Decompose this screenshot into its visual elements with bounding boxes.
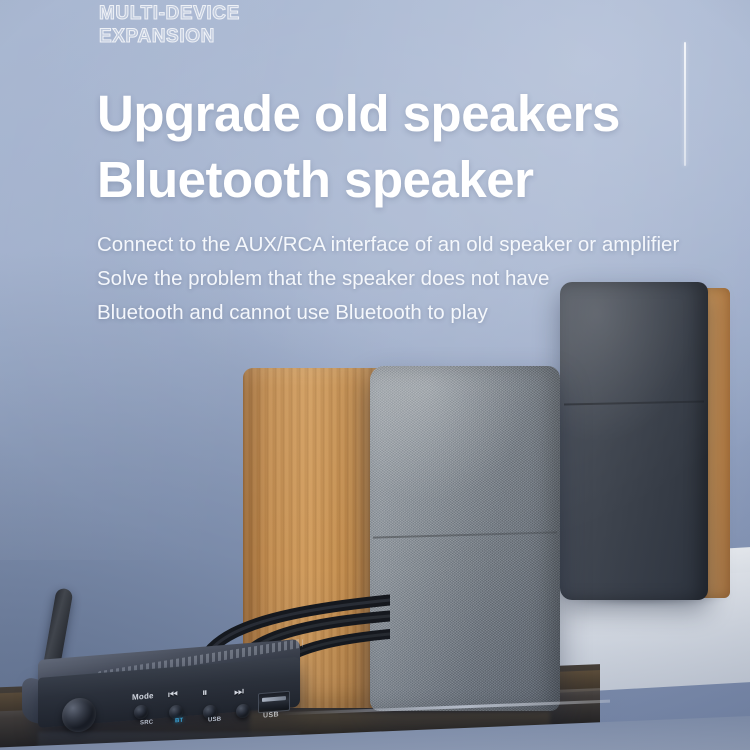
mode-label: Mode [132, 692, 154, 702]
mode-button[interactable] [134, 704, 148, 719]
eyebrow-text: MULTI-DEVICE EXPANSION [99, 2, 499, 48]
previous-track-icon: ⏮ [168, 690, 178, 702]
bt-indicator-label: BT [175, 718, 183, 725]
front-speaker-fabric-texture [370, 366, 560, 711]
next-track-icon: ⏭ [234, 687, 244, 699]
next-track-button[interactable] [236, 703, 250, 718]
pause-icon: ⏸ [202, 688, 208, 699]
usb-port[interactable] [258, 691, 290, 714]
description-text: Connect to the AUX/RCA interface of an o… [97, 228, 727, 330]
src-indicator-label: SRC [140, 719, 153, 726]
product-banner-scene: Mode ⏮ ⏸ ⏭ SRC BT USB USB MULTI-DEVICE E… [0, 0, 750, 750]
page-title: Upgrade old speakers Bluetooth speaker [97, 81, 717, 213]
usb-indicator-label: USB [208, 716, 221, 723]
